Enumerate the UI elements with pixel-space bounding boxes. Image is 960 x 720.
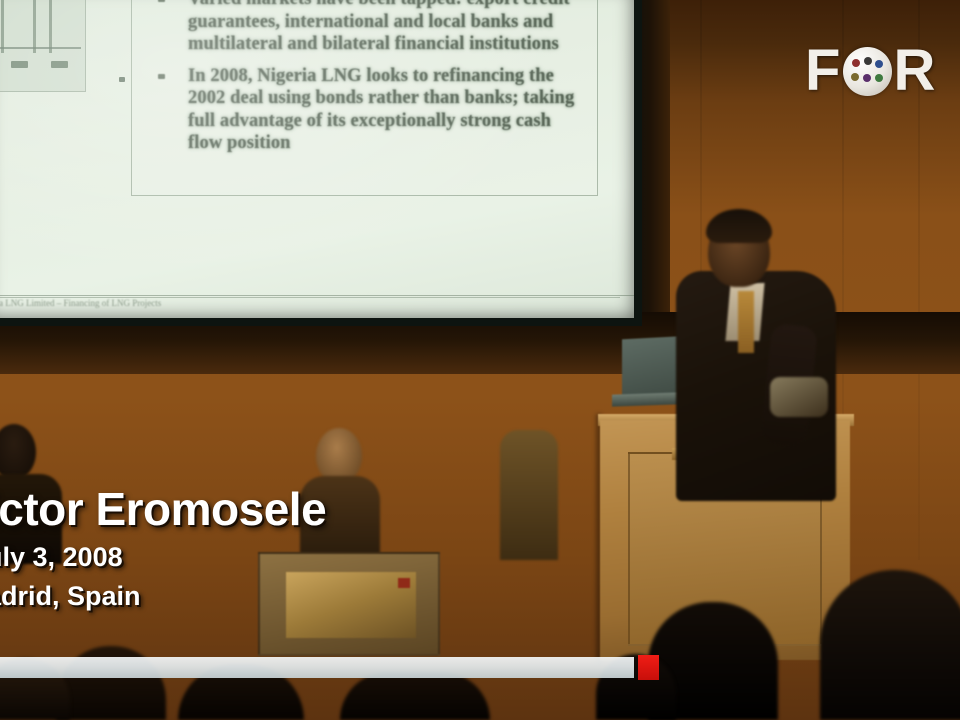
- audience-head: [820, 570, 960, 720]
- logo-letter-r: R: [893, 42, 937, 100]
- lower-third-caption: ictor Eromosele uly 3, 2008 adrid, Spain: [0, 483, 606, 612]
- slide-divider: [0, 295, 634, 296]
- slide-footer-text: Nigeria LNG Limited – Financing of LNG P…: [0, 298, 624, 314]
- speaker-name: ictor Eromosele: [0, 483, 606, 535]
- progress-playhead[interactable]: [638, 655, 659, 680]
- slide-mini-chart: [0, 0, 86, 92]
- audience-head: [340, 672, 490, 720]
- event-date: uly 3, 2008: [0, 541, 606, 573]
- slide-bullet-list: Varied markets have been tapped: export …: [136, 0, 587, 155]
- event-location: adrid, Spain: [0, 580, 606, 612]
- projection-screen: Varied markets have been tapped: export …: [0, 0, 634, 318]
- slide-text-box: Varied markets have been tapped: export …: [131, 0, 598, 196]
- video-player-frame: Varied markets have been tapped: export …: [0, 0, 960, 720]
- slide-bullet-item: Varied markets have been tapped: export …: [136, 0, 587, 56]
- globe-icon: [843, 47, 892, 96]
- speaker-hair: [706, 209, 772, 243]
- speaker-tie: [738, 291, 754, 353]
- speaker: [670, 205, 880, 505]
- logo-letter-f: F: [805, 42, 842, 100]
- video-progress-bar[interactable]: [0, 657, 960, 678]
- progress-played[interactable]: [0, 657, 634, 678]
- slide-left-markers: [119, 0, 129, 202]
- slide-bullet-item: In 2008, Nigeria LNG looks to refinancin…: [136, 65, 587, 155]
- speaker-notes: [770, 377, 828, 417]
- channel-logo: F R: [805, 40, 937, 102]
